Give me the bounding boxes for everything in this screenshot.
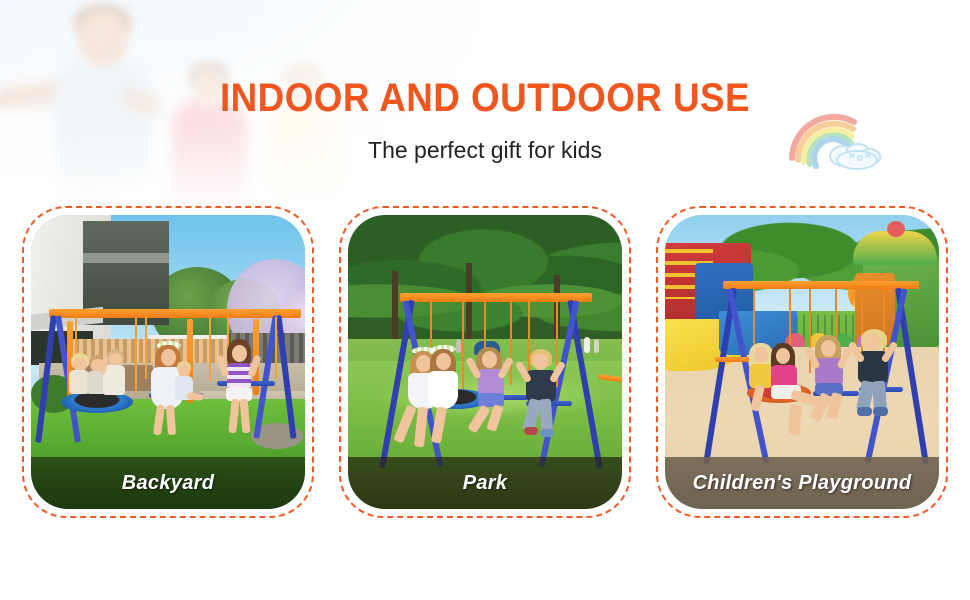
caption-childrens-playground: Children's Playground bbox=[693, 472, 912, 495]
pk-person-1 bbox=[456, 339, 461, 353]
rainbow-cloud-icon bbox=[782, 96, 892, 172]
panel-backyard[interactable]: Backyard bbox=[22, 206, 314, 518]
photo-childrens-playground: Children's Playground bbox=[665, 215, 939, 509]
pg-cross-bar bbox=[715, 357, 751, 362]
bk-chain-2 bbox=[135, 317, 137, 393]
caption-bar-backyard: Backyard bbox=[31, 457, 305, 509]
bk-chain-4 bbox=[209, 317, 211, 381]
pk-chain-4 bbox=[510, 301, 512, 385]
panel-row: Backyard bbox=[0, 206, 970, 522]
pk-person-2 bbox=[584, 337, 590, 353]
pk-chain-2 bbox=[462, 301, 464, 397]
pk-trunk-2 bbox=[466, 263, 472, 347]
pg-roof-finial bbox=[887, 221, 905, 237]
photo-park: Park bbox=[348, 215, 622, 509]
caption-bar-childrens-playground: Children's Playground bbox=[665, 457, 939, 509]
photo-backyard: Backyard bbox=[31, 215, 305, 509]
bk-top-beam bbox=[49, 309, 301, 318]
pg-top-beam bbox=[723, 281, 919, 289]
panel-childrens-playground[interactable]: Children's Playground bbox=[656, 206, 948, 518]
caption-park: Park bbox=[463, 472, 508, 495]
pk-person-3 bbox=[594, 339, 599, 353]
cloud-shape bbox=[830, 144, 880, 169]
caption-backyard: Backyard bbox=[122, 472, 214, 495]
bk-chain-3 bbox=[145, 317, 147, 379]
pk-trunk-1 bbox=[392, 271, 398, 347]
pk-top-beam bbox=[400, 293, 592, 302]
bk-building-band bbox=[83, 253, 169, 263]
caption-bar-park: Park bbox=[348, 457, 622, 509]
bk-chain-6 bbox=[275, 317, 277, 379]
panel-park[interactable]: Park bbox=[339, 206, 631, 518]
